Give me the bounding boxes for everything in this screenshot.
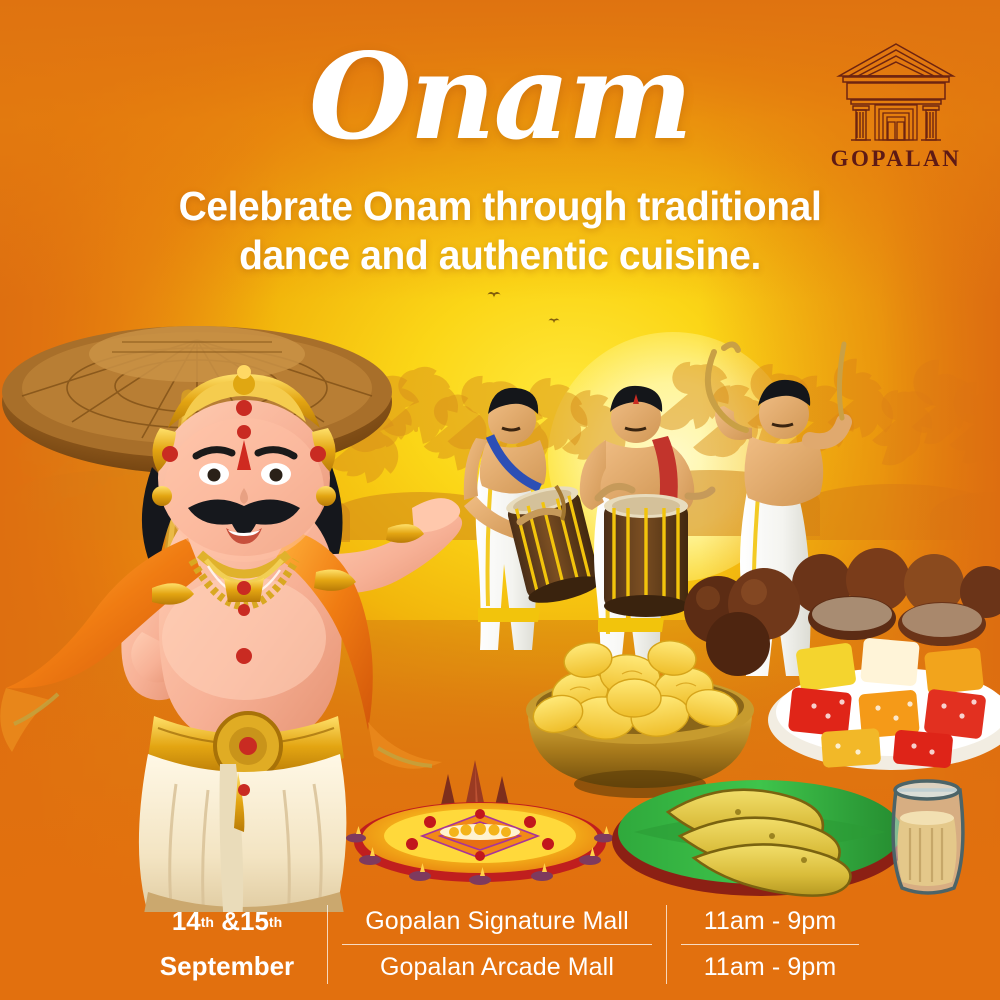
bananas-banana-leaf — [612, 780, 908, 896]
onam-festival-poster: Onam Celebrate Onam through traditional … — [0, 0, 1000, 1000]
assorted-sweets-platter — [768, 548, 1000, 770]
day-first: 14 — [172, 906, 201, 937]
event-date-column: 14th &15th September — [141, 899, 313, 990]
venue-row-1: Gopalan Signature Mall — [342, 899, 652, 944]
page-headline: Celebrate Onam through traditional dance… — [60, 182, 940, 280]
day-second: &15 — [221, 906, 269, 937]
brand-wordmark: GOPALAN — [828, 146, 964, 172]
event-details-table: 14th &15th September Gopalan Signature M… — [141, 899, 859, 990]
event-day-line: 14th &15th — [149, 899, 305, 944]
column-divider — [327, 905, 328, 984]
brand-logo[interactable]: GOPALAN — [828, 40, 964, 172]
venue-row-2: Gopalan Arcade Mall — [342, 945, 652, 990]
event-details-footer: 14th &15th September Gopalan Signature M… — [0, 888, 1000, 1000]
day-first-suffix: th — [201, 914, 214, 930]
day-second-suffix: th — [269, 914, 282, 930]
chai-glass — [893, 781, 963, 893]
bird-icon — [548, 319, 560, 325]
headline-line-2: dance and authentic cuisine. — [82, 231, 918, 280]
timing-row-1: 11am - 9pm — [681, 899, 859, 944]
onam-sadya-food-spread — [522, 540, 1000, 900]
column-divider — [666, 905, 667, 984]
event-month: September — [149, 944, 305, 989]
timing-column: 11am - 9pm 11am - 9pm — [681, 899, 859, 990]
timing-row-2: 11am - 9pm — [681, 945, 859, 990]
headline-line-1: Celebrate Onam through traditional — [82, 182, 918, 231]
venue-column: Gopalan Signature Mall Gopalan Arcade Ma… — [342, 899, 652, 990]
unniyappam-cluster — [684, 568, 800, 676]
temple-portico-icon — [831, 40, 961, 144]
